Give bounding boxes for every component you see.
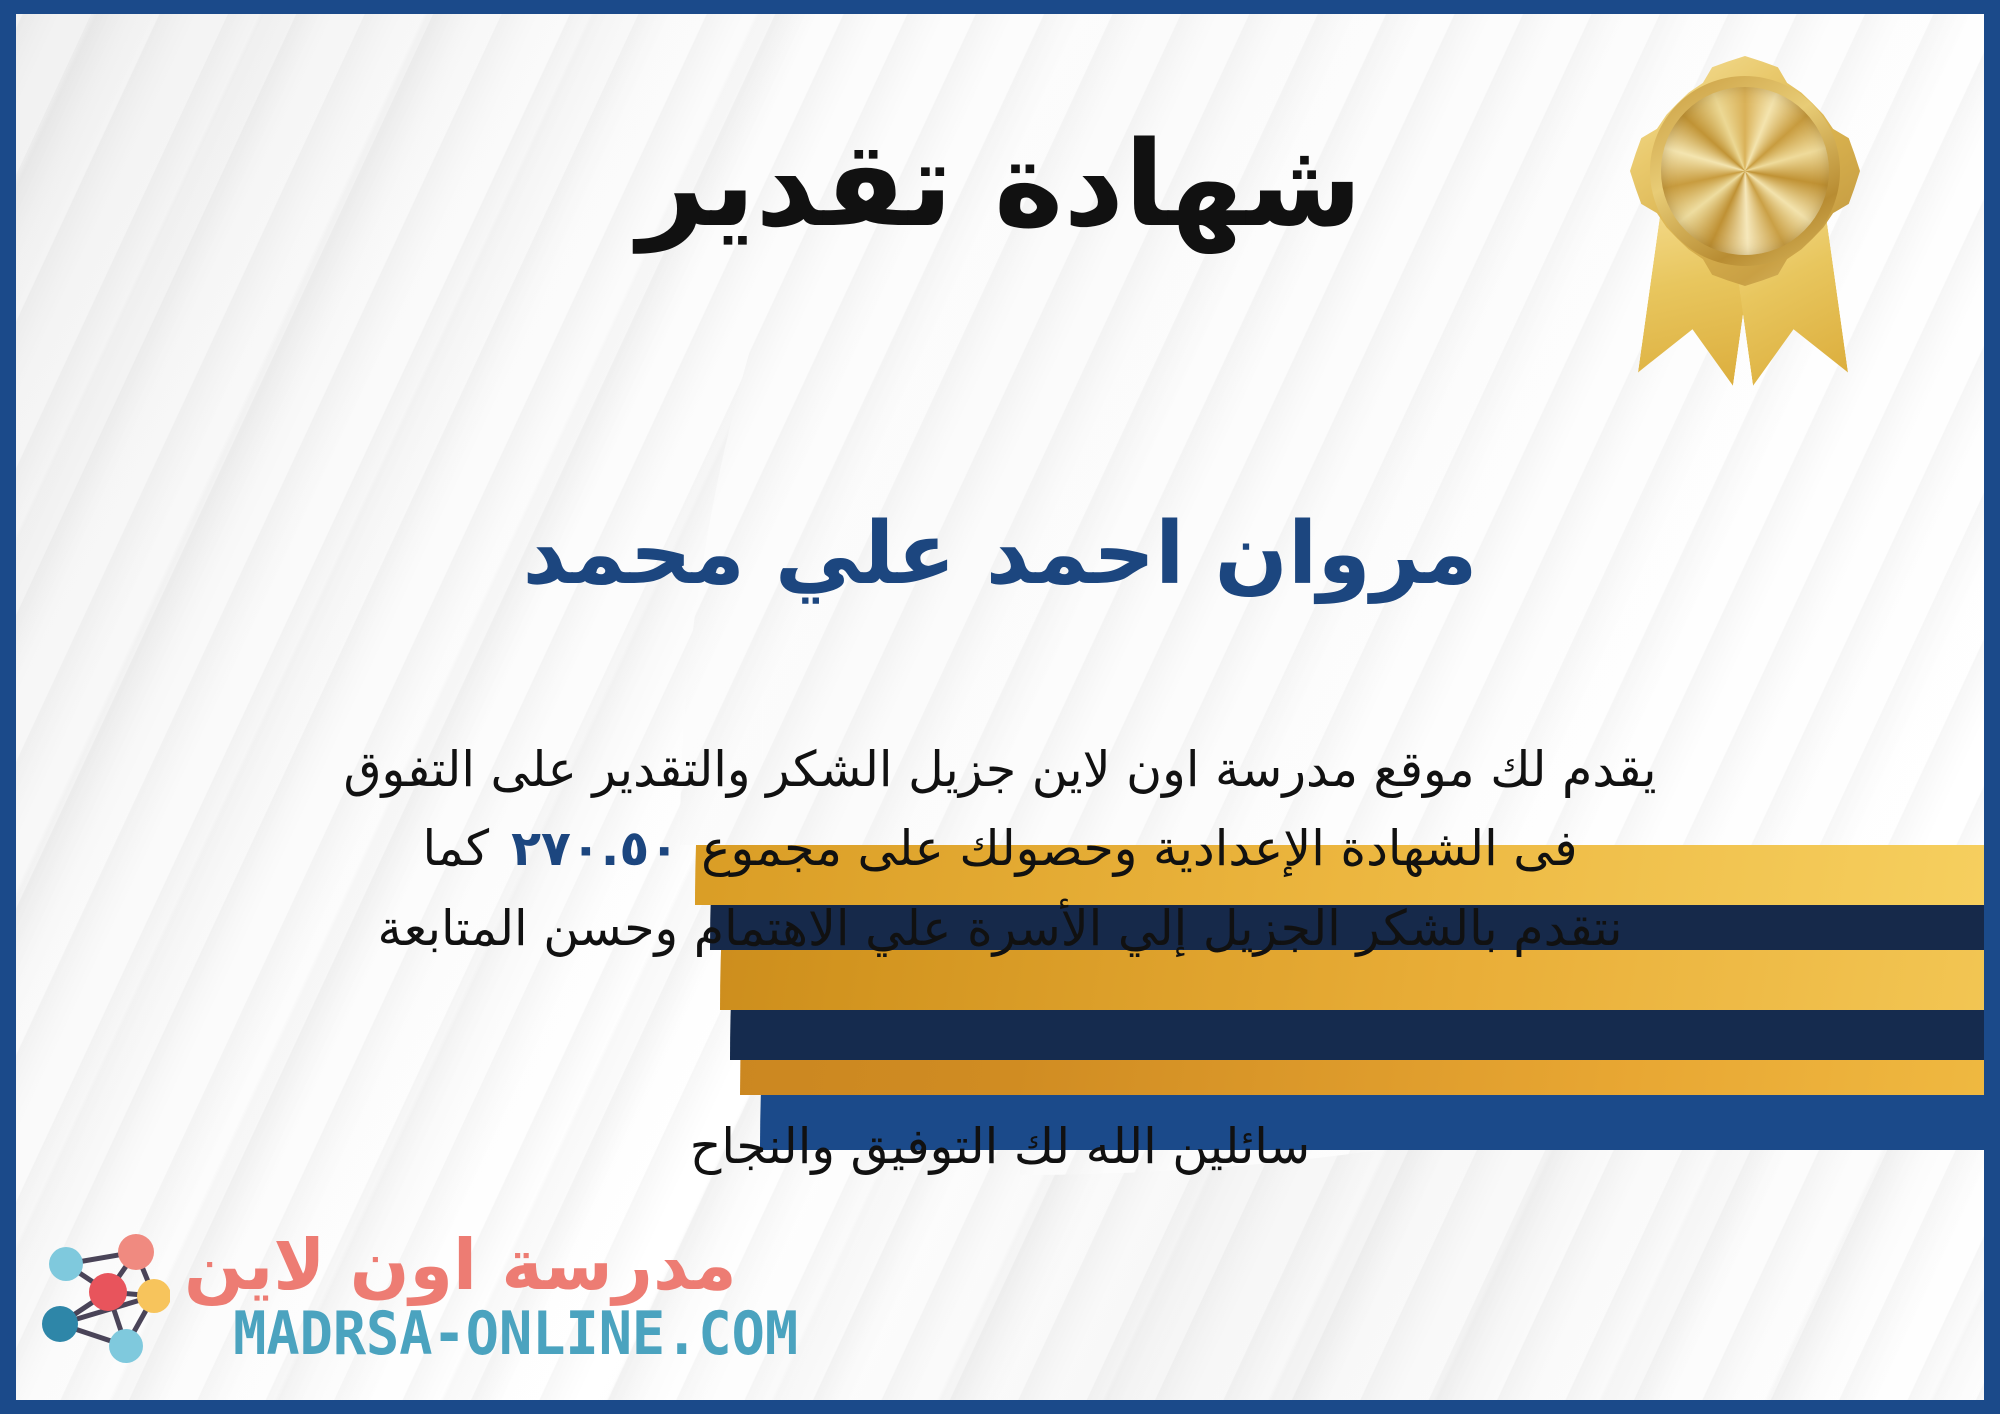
body-line-2: فى الشهادة الإعدادية وحصولك على مجموع٢٧٠… <box>230 809 1770 888</box>
brand-logo-text: مدرسة اون لاين MADRSA-ONLINE.COM <box>184 1230 798 1364</box>
page-title: شهادة تقدير <box>0 120 2000 250</box>
body-line-2-suffix: كما <box>422 820 489 877</box>
body-line-3: نتقدم بالشكر الجزيل إلي الأسرة علي الاهت… <box>230 889 1770 968</box>
certificate-body-text: يقدم لك موقع مدرسة اون لاين جزيل الشكر و… <box>230 730 1770 968</box>
body-line-1: يقدم لك موقع مدرسة اون لاين جزيل الشكر و… <box>230 730 1770 809</box>
brand-logo[interactable]: مدرسة اون لاين MADRSA-ONLINE.COM <box>30 1209 590 1384</box>
brand-name-arabic: مدرسة اون لاين <box>184 1230 737 1300</box>
certificate-canvas: شهادة تقدير مروان احمد علي محمد يقدم لك … <box>0 0 2000 1414</box>
closing-wish-text: سائلين الله لك التوفيق والنجاح <box>0 1110 2000 1184</box>
total-score-value: ٢٧٠.٥٠ <box>489 820 701 877</box>
frame-edge-bottom <box>0 1400 2000 1414</box>
frame-edge-top <box>0 0 2000 14</box>
recipient-name: مروان احمد علي محمد <box>0 505 2000 604</box>
brand-website-url: MADRSA-ONLINE.COM <box>233 1304 798 1364</box>
body-line-2-prefix: فى الشهادة الإعدادية وحصولك على مجموع <box>701 820 1577 877</box>
network-nodes-icon <box>30 1222 170 1372</box>
